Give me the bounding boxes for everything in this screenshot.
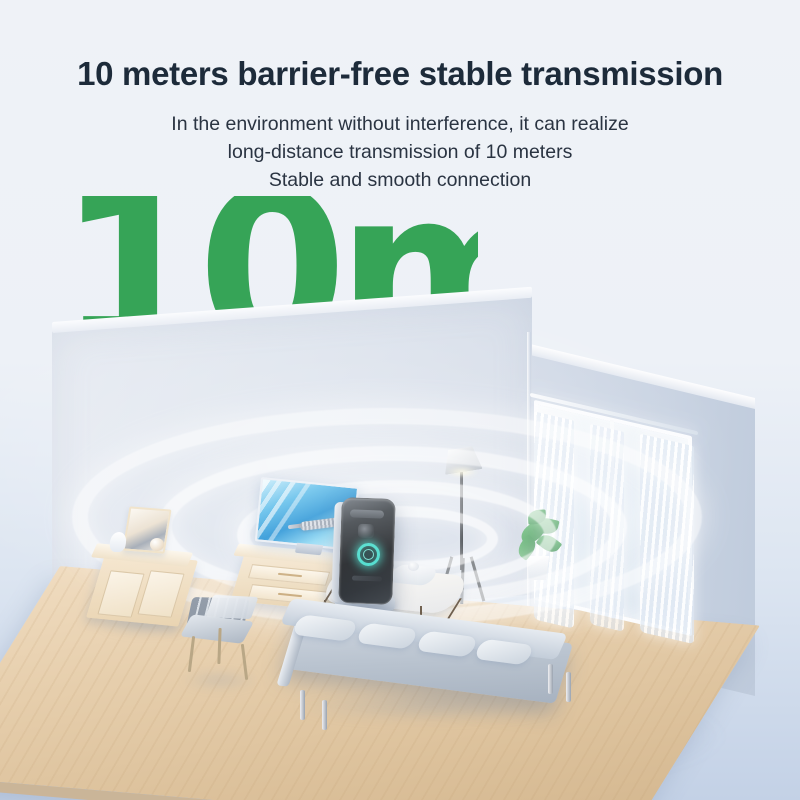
shadow-accent-chair xyxy=(180,670,260,690)
device-button[interactable] xyxy=(352,575,382,581)
wall-corner-seam xyxy=(527,332,531,632)
curtain-middle xyxy=(590,424,624,632)
device-sensor-icon xyxy=(358,524,374,539)
living-room-diorama xyxy=(0,0,800,800)
sofa-leg xyxy=(548,664,553,694)
floor-lamp-pole xyxy=(460,470,463,570)
accent-chair-throw xyxy=(206,595,259,619)
floor-lamp-glow xyxy=(446,466,478,478)
decor-object xyxy=(150,538,164,551)
marketing-banner: 10 meters barrier-free stable transmissi… xyxy=(0,0,800,800)
decor-cup xyxy=(408,562,419,571)
sofa-leg xyxy=(322,700,327,730)
sofa-leg xyxy=(566,672,571,702)
curtain-right xyxy=(640,434,694,644)
device-speaker-grille-icon xyxy=(350,509,384,518)
sofa-leg xyxy=(300,690,305,720)
framed-mirror xyxy=(122,506,171,553)
